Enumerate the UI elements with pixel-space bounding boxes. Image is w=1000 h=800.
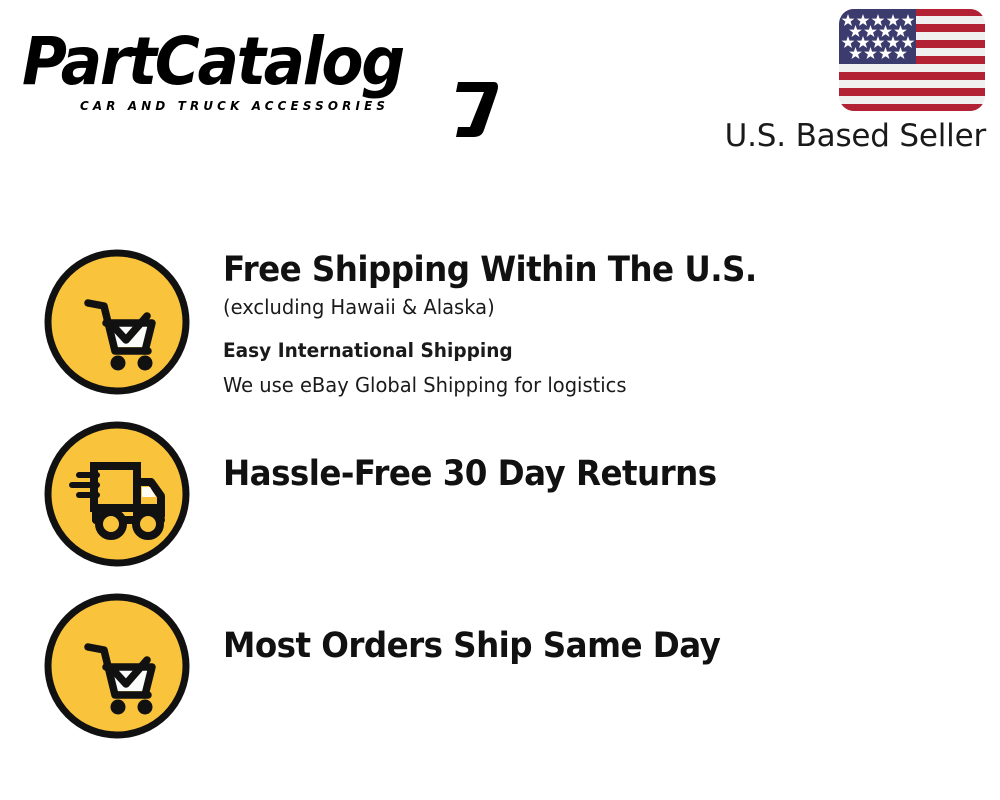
page-header: PartCatalog CAR AND TRUCK ACCESSORIES — [0, 0, 1000, 185]
feature-subline: (excluding Hawaii & Alaska) — [223, 290, 768, 324]
delivery-truck-icon — [43, 420, 191, 568]
feature-text-block: Hassle-Free 30 Day Returns — [223, 420, 754, 496]
feature-row: Hassle-Free 30 Day Returns — [0, 420, 1000, 568]
feature-text-block: Most Orders Ship Same Day — [223, 592, 758, 668]
brand-wordmark: PartCatalog — [22, 28, 459, 96]
feature-heading: Most Orders Ship Same Day — [223, 624, 720, 668]
shopping-cart-check-svg — [43, 248, 191, 396]
us-flag-svg — [838, 8, 986, 112]
brand-swoosh-icon — [454, 80, 500, 138]
shopping-cart-check-icon — [43, 248, 191, 396]
feature-row: Free Shipping Within The U.S. (excluding… — [0, 248, 1000, 402]
feature-text-block: Free Shipping Within The U.S. (excluding… — [223, 248, 797, 402]
shopping-cart-check-svg — [43, 592, 191, 740]
feature-heading: Free Shipping Within The U.S. — [223, 248, 757, 292]
feature-subline: We use eBay Global Shipping for logistic… — [223, 368, 768, 402]
feature-subline: Easy International Shipping — [223, 334, 768, 368]
feature-row: Most Orders Ship Same Day — [0, 592, 1000, 740]
us-based-seller-label: U.S. Based Seller — [716, 118, 986, 154]
us-flag-icon — [838, 8, 986, 112]
shopping-cart-check-icon — [43, 592, 191, 740]
brand-logo[interactable]: PartCatalog CAR AND TRUCK ACCESSORIES — [22, 28, 492, 120]
us-based-seller-badge: U.S. Based Seller — [716, 8, 986, 154]
brand-tagline: CAR AND TRUCK ACCESSORIES — [80, 98, 389, 113]
delivery-truck-svg — [43, 420, 191, 568]
feature-heading: Hassle-Free 30 Day Returns — [223, 452, 717, 496]
